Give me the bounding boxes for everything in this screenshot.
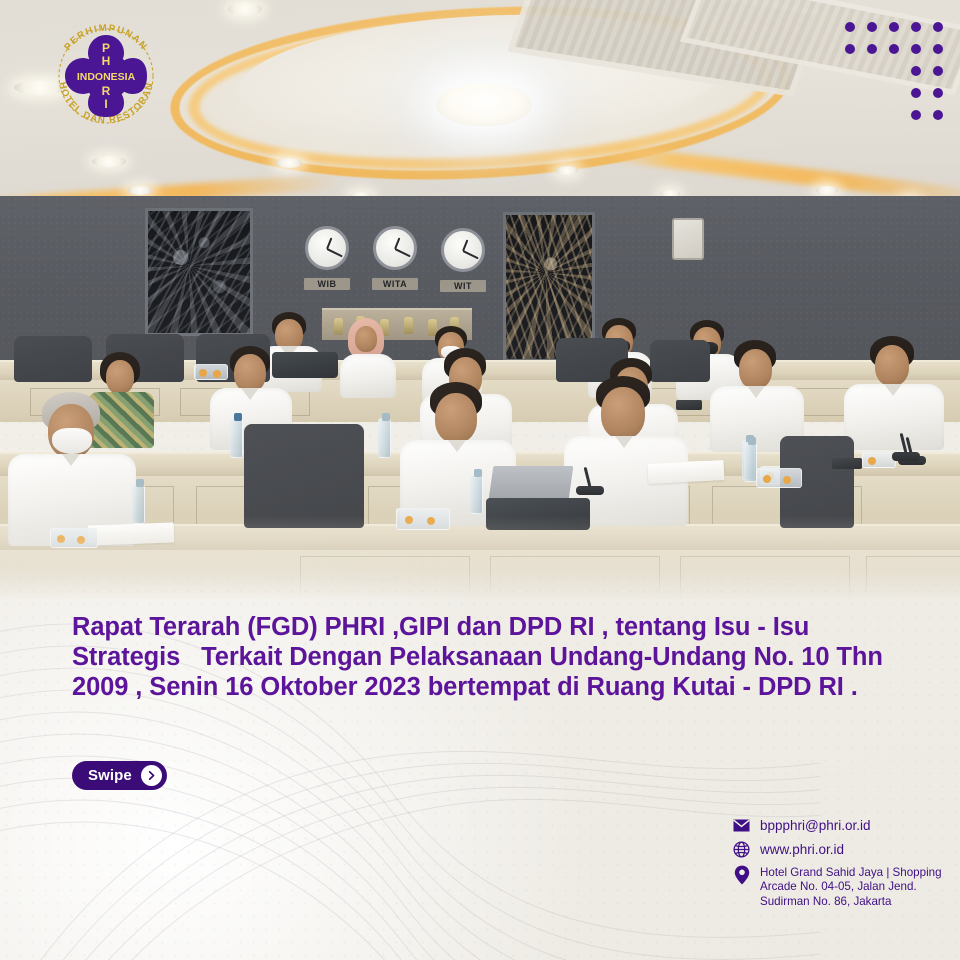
laptop-bag-front — [486, 498, 590, 530]
poster-canvas: WIB WITA WIT — [0, 0, 960, 960]
phone-front — [832, 458, 862, 469]
logo-letter-r: R — [102, 84, 111, 98]
water-bottle-mid-1 — [378, 418, 391, 458]
snack-box-front-1 — [50, 528, 98, 548]
snack-box-mid-2 — [862, 452, 896, 468]
contact-website-text: www.phri.or.id — [760, 840, 844, 858]
clock-label-wib: WIB — [304, 278, 350, 290]
logo-letter-p: P — [102, 41, 110, 55]
swipe-button[interactable]: Swipe — [72, 761, 167, 790]
contact-address-text: Hotel Grand Sahid Jaya | Shopping Arcade… — [760, 864, 948, 909]
logo-indonesia-text: INDONESIA — [77, 71, 136, 83]
snack-box-front-3 — [756, 468, 802, 488]
snack-box-front-2 — [396, 508, 450, 530]
logo-letter-h: H — [102, 54, 111, 68]
contact-row-email[interactable]: bppphri@phri.or.id — [732, 816, 948, 835]
carved-wall-panel-left — [145, 208, 253, 336]
phri-logo: PERHIMPUNAN HOTEL DAN RESTORAN P H R I I… — [47, 17, 165, 135]
document-papers-front-2 — [648, 460, 725, 484]
contact-row-address: Hotel Grand Sahid Jaya | Shopping Arcade… — [732, 864, 948, 909]
microphone-front-2 — [892, 452, 920, 461]
chair-back-5 — [650, 340, 710, 382]
logo-letter-i: I — [104, 97, 107, 111]
clock-label-wita: WITA — [372, 278, 418, 290]
snack-box-back — [194, 364, 228, 380]
contact-info: bppphri@phri.or.id www.phri.or.id — [732, 816, 948, 914]
contact-row-website[interactable]: www.phri.or.id — [732, 840, 948, 859]
ceiling-light-fixture — [436, 84, 532, 126]
water-bottle-front-2 — [470, 474, 483, 514]
microphone-front-1 — [576, 486, 604, 495]
wall-speaker — [672, 218, 704, 260]
chevron-right-icon — [141, 765, 162, 786]
water-bottle-front-1 — [132, 484, 145, 524]
chair-back-1 — [14, 336, 92, 382]
contact-email-text: bppphri@phri.or.id — [760, 816, 871, 834]
globe-icon — [732, 840, 751, 859]
wall-clock-wit — [441, 228, 485, 272]
clock-label-wit: WIT — [440, 280, 486, 292]
phone-mid — [676, 400, 702, 410]
page-title: Rapat Terarah (FGD) PHRI ,GIPI dan DPD R… — [72, 612, 902, 702]
swipe-button-label: Swipe — [88, 767, 132, 784]
wall-clock-wib — [305, 226, 349, 270]
document-papers-front — [88, 523, 175, 546]
wall-clock-wita — [373, 226, 417, 270]
envelope-icon — [732, 816, 751, 835]
chair-front-center — [244, 424, 364, 528]
dot-grid-decoration — [845, 22, 945, 114]
location-pin-icon — [732, 865, 751, 884]
laptop-bag-back — [272, 352, 338, 378]
water-bottle-mid-3 — [230, 418, 243, 458]
